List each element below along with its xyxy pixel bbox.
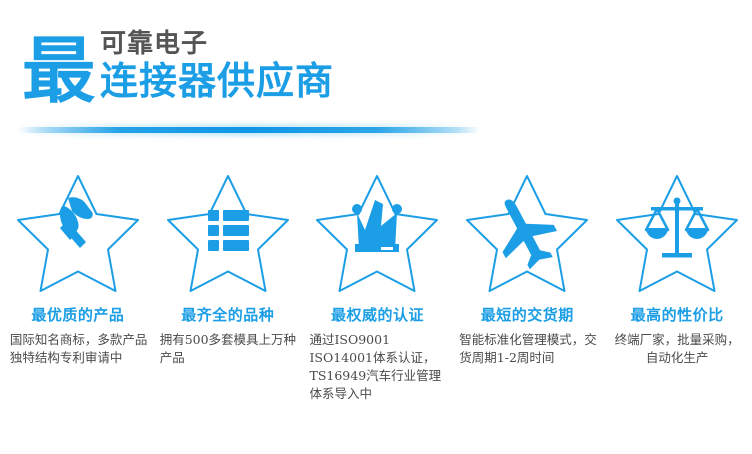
header-banner: 最 可靠电子 连接器供应商 [0, 0, 752, 150]
star-badge [607, 168, 747, 300]
feature-item: 最权威的认证 通过ISO9001 ISO14001体系认证，TS16949汽车行… [303, 168, 453, 404]
feature-title: 最优质的产品 [31, 304, 124, 325]
feature-title: 最高的性价比 [631, 304, 724, 325]
title-text-group: 可靠电子 连接器供应商 [100, 30, 334, 104]
feature-title: 最权威的认证 [331, 304, 424, 325]
balance-scale-icon [646, 198, 708, 258]
title-main: 连接器供应商 [100, 62, 334, 102]
title-subtitle: 可靠电子 [100, 30, 334, 60]
crown-icon [352, 200, 402, 252]
feature-item: 最优质的产品 国际知名商标，多款产品独特结构专利审请中 [3, 168, 153, 404]
star-badge [457, 168, 597, 300]
feature-description: 通过ISO9001 ISO14001体系认证，TS16949汽车行业管理体系导入… [305, 331, 449, 404]
feature-item: 最短的交货期 智能标准化管理模式，交货周期1-2周时间 [452, 168, 602, 404]
title-divider [18, 127, 480, 133]
feature-item: 最高的性价比 终端厂家，批量采购，自动化生产 [602, 168, 752, 404]
feature-item: 最齐全的品种 拥有500多套模具上万种产品 [153, 168, 303, 404]
feature-title: 最短的交货期 [481, 304, 574, 325]
feature-description: 拥有500多套模具上万种产品 [156, 331, 300, 367]
feature-description: 终端厂家，批量采购，自动化生产 [611, 331, 743, 367]
page-title: 最 可靠电子 连接器供应商 [22, 30, 334, 104]
list-grid-icon [208, 210, 249, 251]
feature-description: 国际知名商标，多款产品独特结构专利审请中 [6, 331, 150, 367]
title-big-character: 最 [22, 38, 95, 104]
feature-title: 最齐全的品种 [181, 304, 274, 325]
star-badge [307, 168, 447, 300]
feature-list: 最优质的产品 国际知名商标，多款产品独特结构专利审请中 最齐全的品种 拥有500… [0, 168, 752, 404]
star-badge [158, 168, 298, 300]
feature-description: 智能标准化管理模式，交货周期1-2周时间 [455, 331, 599, 367]
star-badge [8, 168, 148, 300]
